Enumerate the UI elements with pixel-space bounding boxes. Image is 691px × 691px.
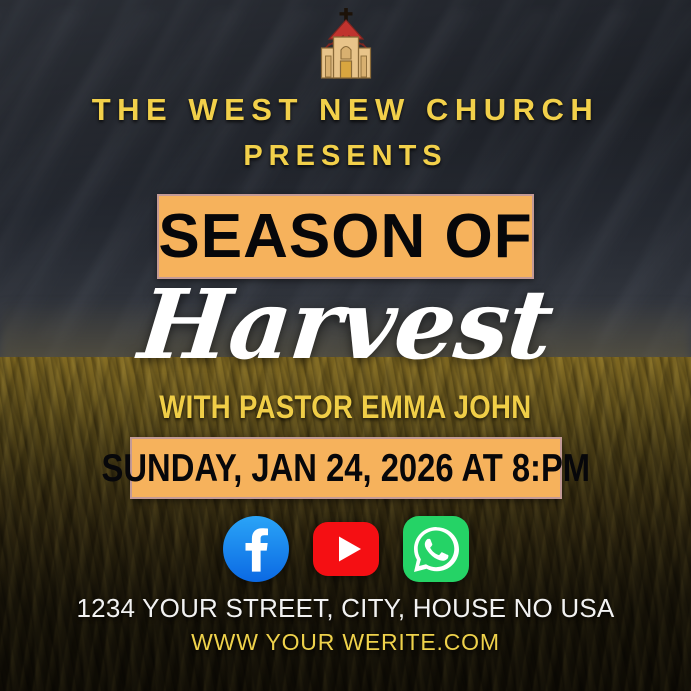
event-poster: THE WEST NEW CHURCH PRESENTS SEASON OF H… — [0, 0, 691, 691]
poster-content: THE WEST NEW CHURCH PRESENTS SEASON OF H… — [0, 0, 691, 691]
harvest-script-title: Harvest — [135, 277, 557, 373]
season-title: SEASON OF — [158, 206, 532, 268]
event-datetime: SUNDAY, JAN 24, 2026 AT 8:PM — [101, 449, 590, 488]
facebook-icon[interactable] — [222, 515, 290, 583]
church-icon — [310, 6, 382, 80]
speaker-name: WITH PASTOR EMMA JOHN — [159, 391, 531, 423]
church-name: THE WEST NEW CHURCH — [92, 94, 600, 125]
social-links — [222, 515, 470, 583]
youtube-icon[interactable] — [312, 515, 380, 583]
whatsapp-icon[interactable] — [402, 515, 470, 583]
venue-address: 1234 YOUR STREET, CITY, HOUSE NO USA — [77, 595, 615, 621]
presents-label: PRESENTS — [243, 142, 447, 171]
website-url[interactable]: WWW YOUR WERITE.COM — [191, 631, 500, 654]
season-banner: SEASON OF — [157, 194, 534, 279]
datetime-banner: SUNDAY, JAN 24, 2026 AT 8:PM — [130, 437, 562, 499]
